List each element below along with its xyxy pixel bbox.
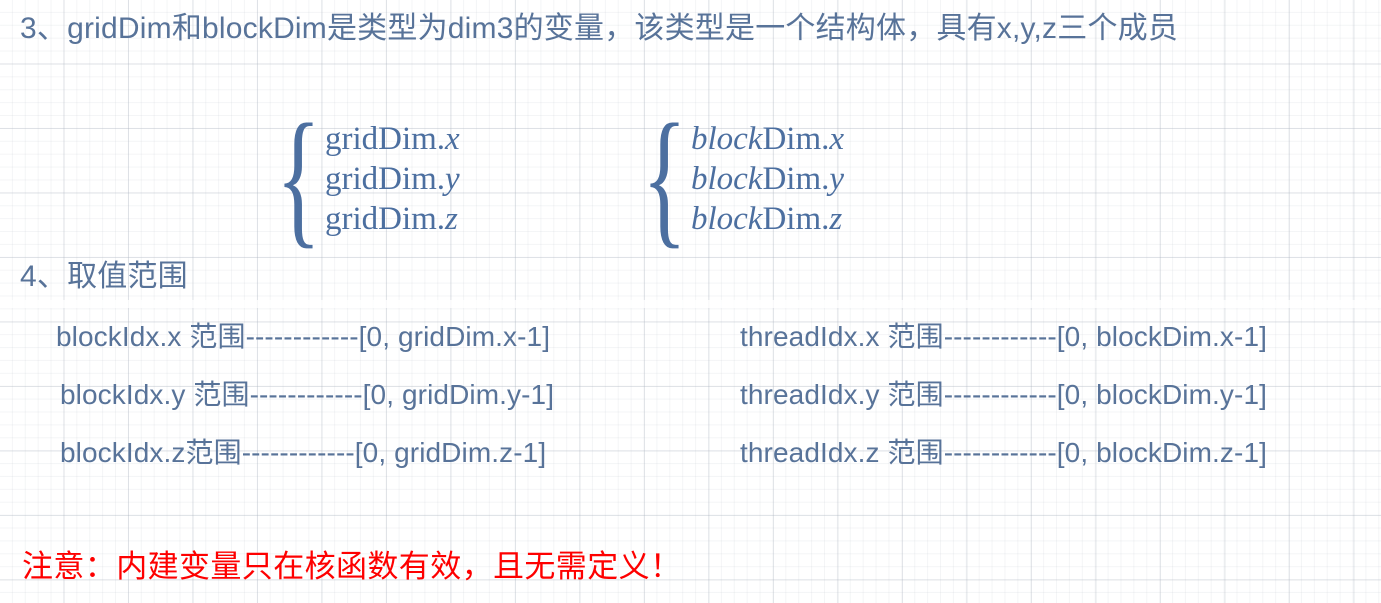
block-dim-formula: { blockDim.x blockDim.y blockDim.z: [628, 118, 844, 240]
block-dim-row-y: blockDim.y: [691, 159, 844, 199]
section-divider: [0, 300, 1381, 308]
item-3-heading: 3、gridDim和blockDim是类型为dim3的变量，该类型是一个结构体，…: [20, 14, 1178, 44]
grid-dim-rows: gridDim.x gridDim.y gridDim.z: [325, 119, 460, 239]
warning-note: 注意：内建变量只在核函数有效，且无需定义！: [22, 551, 681, 582]
grid-dim-row-y: gridDim.y: [325, 159, 460, 199]
grid-dim-row-z: gridDim.z: [325, 199, 460, 239]
block-dim-row-z: blockDim.z: [691, 199, 844, 239]
range-line-threadidx-z: threadIdx.z 范围------------[0, blockDim.z…: [740, 439, 1267, 467]
block-dim-row-x: blockDim.x: [691, 119, 844, 159]
grid-dim-row-x: gridDim.x: [325, 119, 460, 159]
block-dim-rows: blockDim.x blockDim.y blockDim.z: [691, 119, 844, 239]
item-4-heading: 4、取值范围: [20, 262, 188, 292]
range-line-blockidx-z: blockIdx.z范围------------[0, gridDim.z-1]: [60, 439, 546, 467]
slide-canvas: 3、gridDim和blockDim是类型为dim3的变量，该类型是一个结构体，…: [0, 0, 1381, 603]
range-line-threadidx-y: threadIdx.y 范围------------[0, blockDim.y…: [740, 381, 1267, 409]
grid-dim-formula: { gridDim.x gridDim.y gridDim.z: [262, 118, 460, 240]
range-line-blockidx-x: blockIdx.x 范围------------[0, gridDim.x-1…: [56, 323, 550, 351]
range-line-blockidx-y: blockIdx.y 范围------------[0, gridDim.y-1…: [60, 381, 554, 409]
range-line-threadidx-x: threadIdx.x 范围------------[0, blockDim.x…: [740, 323, 1267, 351]
